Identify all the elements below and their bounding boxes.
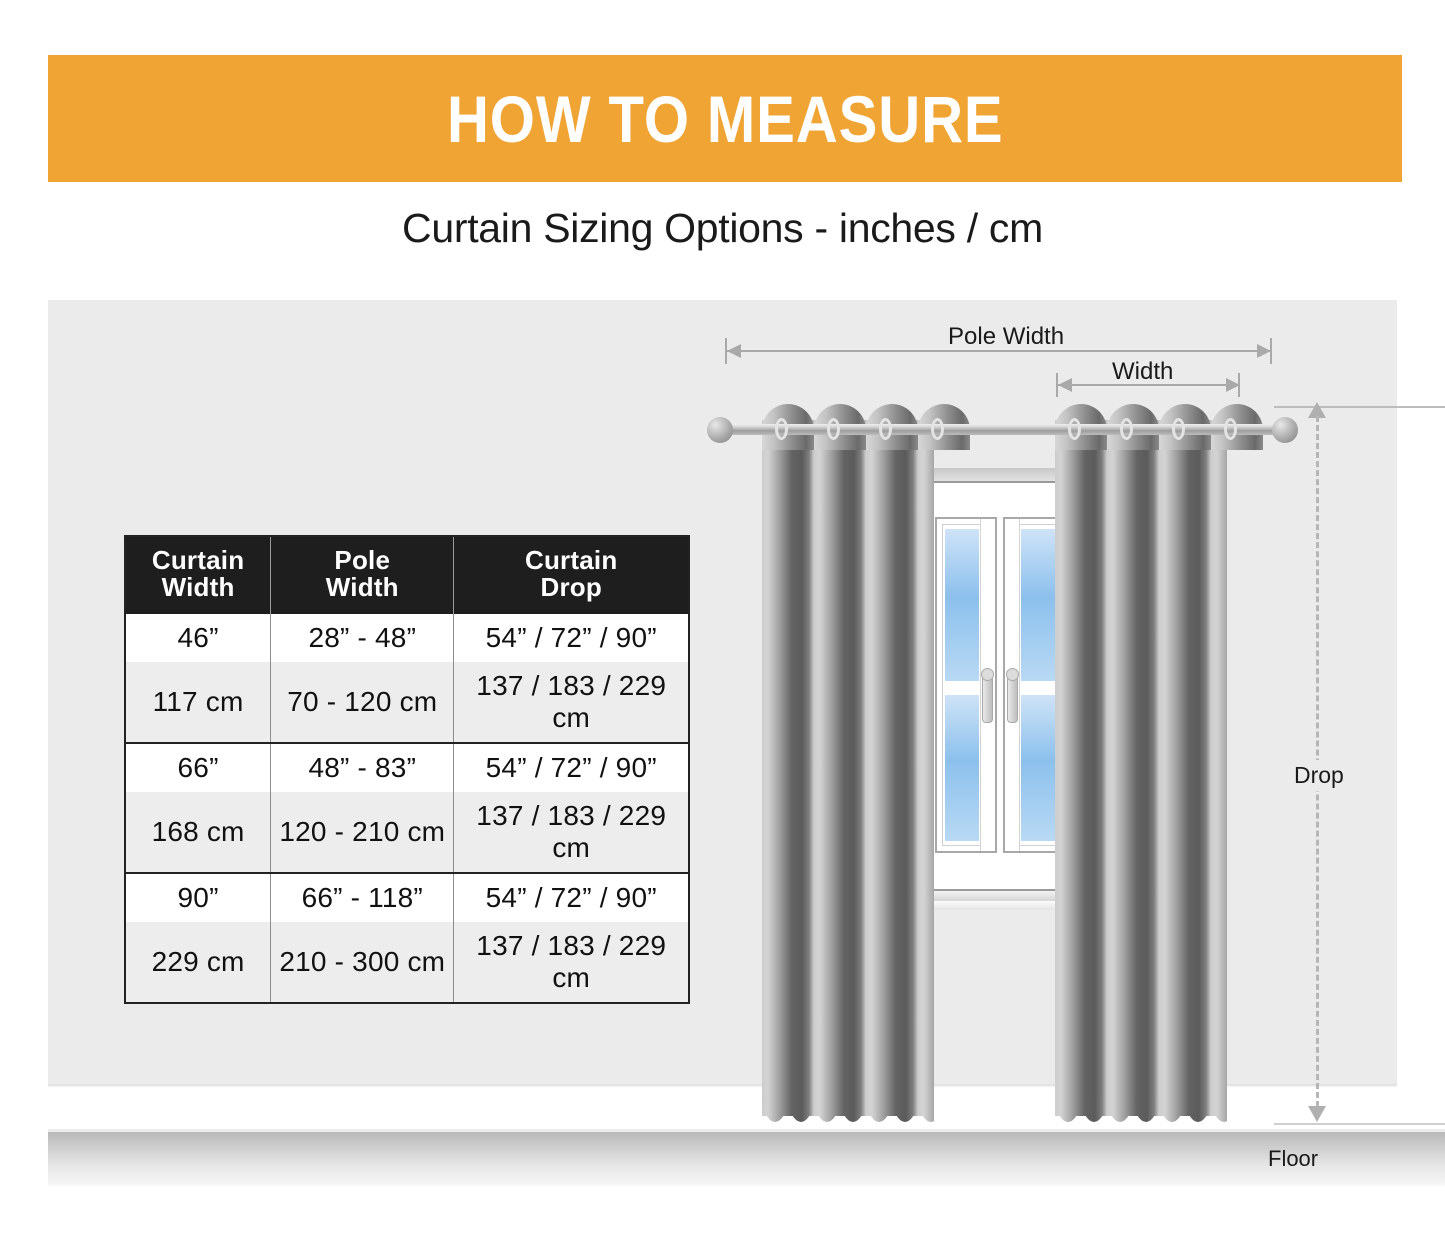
curtain-hem-left bbox=[762, 1096, 934, 1122]
cell-curtain-drop: 137 / 183 / 229 cm bbox=[454, 922, 689, 1003]
header-line-1: Curtain bbox=[152, 545, 244, 575]
column-header-curtain-width: Curtain Width bbox=[125, 536, 271, 614]
curtain-eyelet bbox=[1068, 418, 1081, 440]
subtitle: Curtain Sizing Options - inches / cm bbox=[0, 205, 1445, 252]
sizing-table: Curtain Width Pole Width Curtain Drop 46… bbox=[124, 535, 690, 1004]
cell-curtain-width: 117 cm bbox=[125, 662, 271, 743]
pole-width-label: Pole Width bbox=[948, 323, 1064, 351]
page-title: HOW TO MEASURE bbox=[447, 81, 1004, 157]
cell-curtain-width: 46” bbox=[125, 614, 271, 662]
curtain-panel-left bbox=[762, 420, 934, 1116]
pole-height-extension-line bbox=[1274, 406, 1445, 408]
column-header-curtain-drop: Curtain Drop bbox=[454, 536, 689, 614]
curtain-panel-right bbox=[1055, 420, 1227, 1116]
window-pane bbox=[945, 695, 979, 841]
curtain-eyelet bbox=[775, 418, 788, 440]
cell-curtain-width: 90” bbox=[125, 873, 271, 922]
cell-curtain-drop: 54” / 72” / 90” bbox=[454, 743, 689, 792]
width-label: Width bbox=[1112, 358, 1173, 386]
cell-curtain-width: 229 cm bbox=[125, 922, 271, 1003]
header-banner: HOW TO MEASURE bbox=[48, 55, 1402, 182]
cell-pole-width: 70 - 120 cm bbox=[271, 662, 454, 743]
cell-curtain-drop: 54” / 72” / 90” bbox=[454, 614, 689, 662]
table-row: 117 cm70 - 120 cm137 / 183 / 229 cm bbox=[125, 662, 689, 743]
header-line-1: Pole bbox=[334, 545, 390, 575]
table-row: 66”48” - 83”54” / 72” / 90” bbox=[125, 743, 689, 792]
window-sash-left bbox=[935, 517, 997, 853]
drop-arrow-down-icon bbox=[1308, 1106, 1326, 1122]
pole-finial-left bbox=[707, 417, 733, 443]
column-header-pole-width: Pole Width bbox=[271, 536, 454, 614]
window-frame bbox=[929, 481, 1071, 891]
curtain-eyelet bbox=[879, 418, 892, 440]
cell-curtain-width: 66” bbox=[125, 743, 271, 792]
cell-curtain-drop: 137 / 183 / 229 cm bbox=[454, 792, 689, 873]
window-pane bbox=[1021, 529, 1055, 681]
table-row: 90”66” - 118”54” / 72” / 90” bbox=[125, 873, 689, 922]
pole-width-tick-left bbox=[725, 338, 727, 364]
window-pane bbox=[945, 529, 979, 681]
curtain-hem-right bbox=[1055, 1096, 1227, 1122]
floor-label: Floor bbox=[1268, 1146, 1318, 1172]
cell-pole-width: 210 - 300 cm bbox=[271, 922, 454, 1003]
pole-finial-right bbox=[1272, 417, 1298, 443]
window-handle-icon bbox=[1007, 675, 1018, 723]
header-line-2: Drop bbox=[540, 572, 601, 602]
cell-curtain-drop: 137 / 183 / 229 cm bbox=[454, 662, 689, 743]
cell-curtain-width: 168 cm bbox=[125, 792, 271, 873]
cell-curtain-drop: 54” / 72” / 90” bbox=[454, 873, 689, 922]
table-row: 229 cm210 - 300 cm137 / 183 / 229 cm bbox=[125, 922, 689, 1003]
width-tick-left bbox=[1056, 373, 1058, 397]
pole-width-tick-right bbox=[1270, 338, 1272, 364]
cell-pole-width: 48” - 83” bbox=[271, 743, 454, 792]
window-illustration bbox=[925, 468, 1075, 924]
table-header-row: Curtain Width Pole Width Curtain Drop bbox=[125, 536, 689, 614]
curtain-eyelet bbox=[1120, 418, 1133, 440]
window-pane bbox=[1021, 695, 1055, 841]
header-line-1: Curtain bbox=[525, 545, 617, 575]
window-head bbox=[931, 483, 1069, 515]
width-tick-right bbox=[1238, 373, 1240, 397]
table-row: 168 cm120 - 210 cm137 / 183 / 229 cm bbox=[125, 792, 689, 873]
curtain-eyelet bbox=[1224, 418, 1237, 440]
drop-label: Drop bbox=[1290, 760, 1348, 791]
curtain-eyelet bbox=[931, 418, 944, 440]
cell-pole-width: 28” - 48” bbox=[271, 614, 454, 662]
window-handle-icon bbox=[982, 675, 993, 723]
header-line-2: Width bbox=[326, 572, 399, 602]
floor-surface bbox=[48, 1132, 1445, 1186]
curtain-eyelet bbox=[827, 418, 840, 440]
floor-extension-line bbox=[1274, 1123, 1445, 1125]
cell-pole-width: 120 - 210 cm bbox=[271, 792, 454, 873]
window-sill bbox=[925, 891, 1075, 901]
curtain-pole bbox=[724, 424, 1284, 435]
table-row: 46”28” - 48”54” / 72” / 90” bbox=[125, 614, 689, 662]
cell-pole-width: 66” - 118” bbox=[271, 873, 454, 922]
curtain-eyelet bbox=[1172, 418, 1185, 440]
header-line-2: Width bbox=[162, 572, 235, 602]
window-lintel bbox=[925, 468, 1075, 481]
